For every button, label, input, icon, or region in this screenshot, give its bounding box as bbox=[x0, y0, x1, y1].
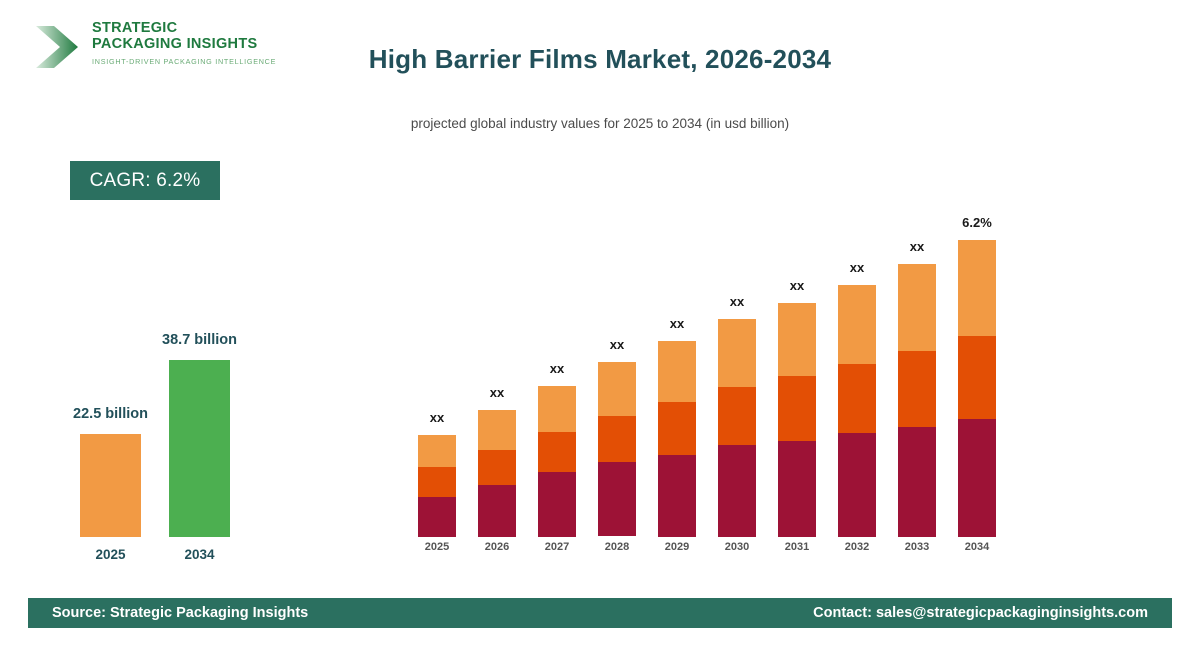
stacked-segment-segment-bottom-2034 bbox=[958, 419, 996, 537]
stacked-year-label-2033: 2033 bbox=[887, 541, 947, 553]
stacked-value-label-2027: xx bbox=[517, 361, 597, 376]
chart-canvas: STRATEGIC PACKAGING INSIGHTS INSIGHT-DRI… bbox=[0, 0, 1200, 650]
stacked-value-label-2025: xx bbox=[397, 410, 477, 425]
stacked-bar-2028 bbox=[598, 362, 636, 537]
stacked-bar-2033 bbox=[898, 264, 936, 537]
footer-bar: Source: Strategic Packaging Insights Con… bbox=[28, 598, 1172, 628]
stacked-value-label-2026: xx bbox=[457, 385, 537, 400]
stacked-segment-segment-middle-2033 bbox=[898, 351, 936, 427]
stacked-year-label-2034: 2034 bbox=[947, 541, 1007, 553]
stacked-bar-2032 bbox=[838, 285, 876, 537]
stacked-segment-segment-top-2031 bbox=[778, 303, 816, 376]
stacked-value-label-2032: xx bbox=[817, 260, 897, 275]
compare-year-label-2025: 2025 bbox=[60, 547, 161, 562]
stacked-segment-segment-bottom-2029 bbox=[658, 455, 696, 537]
stacked-year-label-2028: 2028 bbox=[587, 541, 647, 553]
footer-contact: Contact: sales@strategicpackaginginsight… bbox=[813, 605, 1148, 621]
page-title: High Barrier Films Market, 2026-2034 bbox=[210, 44, 990, 75]
stacked-segment-segment-top-2026 bbox=[478, 410, 516, 450]
stacked-year-label-2030: 2030 bbox=[707, 541, 767, 553]
stacked-segment-segment-middle-2032 bbox=[838, 364, 876, 433]
compare-year-label-2034: 2034 bbox=[149, 547, 250, 562]
stacked-segment-segment-bottom-2025 bbox=[418, 497, 456, 537]
compare-value-label-2025: 22.5 billion bbox=[40, 406, 181, 422]
stacked-value-label-2031: xx bbox=[757, 278, 837, 293]
stacked-year-label-2026: 2026 bbox=[467, 541, 527, 553]
stacked-segment-segment-middle-2031 bbox=[778, 376, 816, 441]
stacked-segment-segment-middle-2025 bbox=[418, 467, 456, 497]
cagr-badge-label: CAGR: 6.2% bbox=[90, 170, 201, 192]
stacked-bar-2025 bbox=[418, 435, 456, 537]
stacked-segment-segment-middle-2026 bbox=[478, 450, 516, 485]
stacked-segment-segment-middle-2028 bbox=[598, 416, 636, 462]
stacked-bar-2026 bbox=[478, 410, 516, 537]
stacked-segment-segment-top-2033 bbox=[898, 264, 936, 351]
stacked-segment-segment-bottom-2030 bbox=[718, 445, 756, 537]
cagr-badge: CAGR: 6.2% bbox=[70, 161, 220, 200]
compare-value-label-2034: 38.7 billion bbox=[129, 332, 270, 348]
stacked-segment-segment-top-2032 bbox=[838, 285, 876, 364]
stacked-segment-segment-middle-2027 bbox=[538, 432, 576, 472]
stacked-segment-segment-top-2027 bbox=[538, 386, 576, 432]
stacked-segment-segment-bottom-2026 bbox=[478, 485, 516, 537]
footer-source: Source: Strategic Packaging Insights bbox=[52, 605, 308, 621]
stacked-bar-2029 bbox=[658, 341, 696, 537]
stacked-segment-segment-top-2029 bbox=[658, 341, 696, 402]
compare-bar-2025 bbox=[80, 434, 141, 537]
stacked-year-label-2031: 2031 bbox=[767, 541, 827, 553]
stacked-bar-2030 bbox=[718, 319, 756, 537]
stacked-value-label-2028: xx bbox=[577, 337, 657, 352]
stacked-segment-segment-middle-2029 bbox=[658, 402, 696, 455]
stacked-segment-segment-bottom-2031 bbox=[778, 441, 816, 537]
stacked-value-label-2030: xx bbox=[697, 294, 777, 309]
stacked-value-label-2033: xx bbox=[877, 239, 957, 254]
stacked-segment-segment-top-2034 bbox=[958, 240, 996, 336]
stacked-segment-segment-top-2030 bbox=[718, 319, 756, 387]
stacked-year-label-2025: 2025 bbox=[407, 541, 467, 553]
stacked-segment-segment-bottom-2028 bbox=[598, 462, 636, 536]
stacked-value-label-2034: 6.2% bbox=[937, 215, 1017, 230]
stacked-value-label-2029: xx bbox=[637, 316, 717, 331]
stacked-bar-2027 bbox=[538, 386, 576, 537]
stacked-segment-segment-bottom-2033 bbox=[898, 427, 936, 537]
stacked-segment-segment-bottom-2032 bbox=[838, 433, 876, 537]
compare-bar-2034 bbox=[169, 360, 230, 537]
stacked-year-label-2027: 2027 bbox=[527, 541, 587, 553]
stacked-year-label-2032: 2032 bbox=[827, 541, 887, 553]
page-subtitle: projected global industry values for 202… bbox=[210, 116, 990, 131]
stacked-segment-segment-middle-2030 bbox=[718, 387, 756, 445]
stacked-year-label-2029: 2029 bbox=[647, 541, 707, 553]
chevron-logo-icon bbox=[34, 22, 84, 72]
stacked-segment-segment-top-2028 bbox=[598, 362, 636, 416]
logo-line-1: STRATEGIC bbox=[92, 20, 276, 36]
stacked-segment-segment-bottom-2027 bbox=[538, 472, 576, 537]
stacked-segment-segment-middle-2034 bbox=[958, 336, 996, 419]
stacked-bar-2031 bbox=[778, 303, 816, 537]
stacked-segment-segment-top-2025 bbox=[418, 435, 456, 467]
stacked-bar-2034 bbox=[958, 240, 996, 537]
